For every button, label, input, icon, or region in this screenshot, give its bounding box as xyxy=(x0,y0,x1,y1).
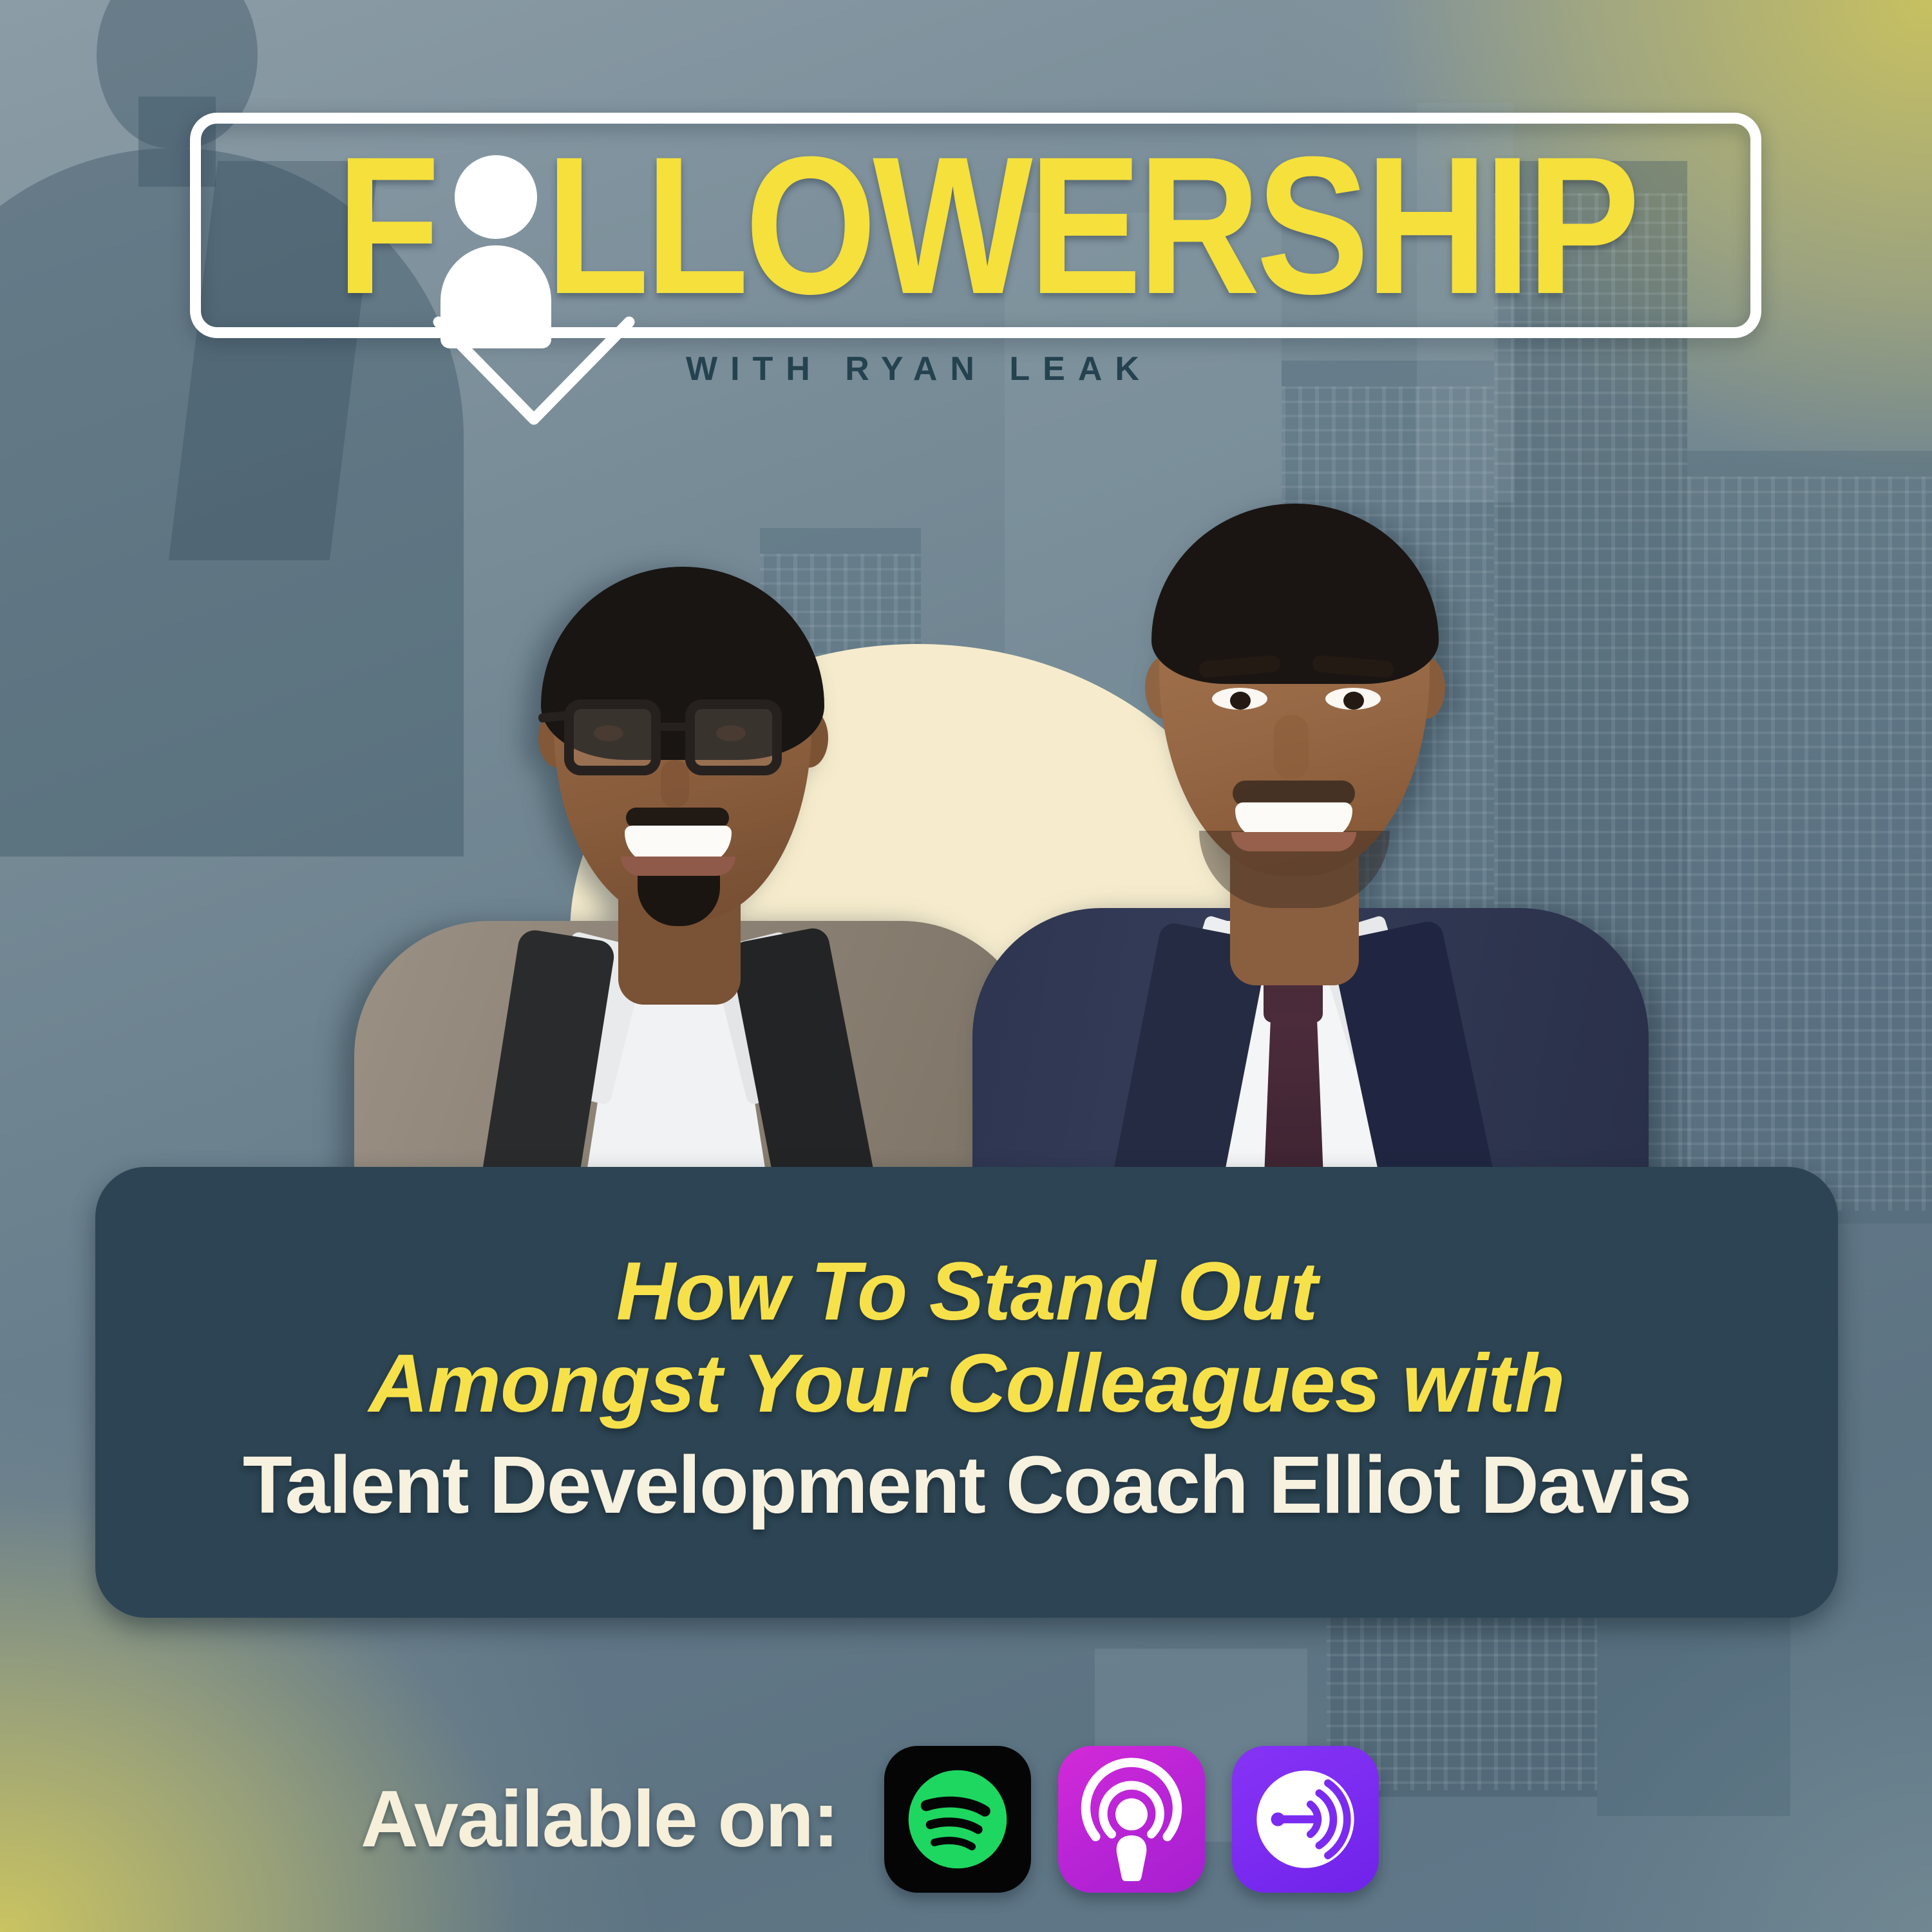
apple-podcasts-icon xyxy=(1070,1757,1193,1881)
left-host-lip xyxy=(621,857,735,876)
right-host-pupil xyxy=(1343,692,1364,710)
right-host-hair xyxy=(1151,504,1439,684)
episode-title-line-2: Amongst Your Colleagues with xyxy=(369,1338,1565,1430)
logo-tagline: WITH RYAN LEAK xyxy=(686,350,1152,388)
left-host-eyeglasses xyxy=(685,699,782,775)
left-host-eyeglasses xyxy=(564,699,661,775)
spotify-icon xyxy=(900,1762,1015,1877)
apple-podcasts-button[interactable] xyxy=(1058,1746,1205,1893)
episode-title-line-3: Talent Development Coach Elliot Davis xyxy=(243,1439,1690,1530)
host-photo-group xyxy=(309,444,1713,1217)
left-host-nose xyxy=(661,760,689,808)
person-icon-head xyxy=(455,155,537,239)
episode-title-card: How To Stand Out Amongst Your Colleagues… xyxy=(95,1167,1838,1618)
podcast-logo: F LLOWERSHIP WITH RYAN LEAK xyxy=(190,113,1761,396)
anchor-podcast-icon xyxy=(1243,1757,1368,1882)
person-icon-body xyxy=(440,245,551,348)
logo-letter-f: F xyxy=(337,128,437,323)
host-photo-left xyxy=(348,470,1050,1217)
right-host-pupil xyxy=(1230,692,1251,710)
person-silhouette-icon xyxy=(435,150,556,311)
anchor-podcast-button[interactable] xyxy=(1232,1746,1379,1893)
left-host-eyeglass-bridge xyxy=(659,723,688,731)
available-on-label: Available on: xyxy=(361,1774,838,1865)
logo-wordmark-rest: LLOWERSHIP xyxy=(545,128,1636,323)
logo-wordmark-row: F LLOWERSHIP xyxy=(190,113,1761,338)
right-host-lip xyxy=(1231,832,1356,851)
spotify-button[interactable] xyxy=(884,1746,1031,1893)
right-host-nose xyxy=(1274,715,1309,779)
availability-row: Available on: xyxy=(361,1732,1584,1906)
building-windows xyxy=(1687,477,1932,1211)
episode-title-line-1: How To Stand Out xyxy=(616,1245,1317,1338)
host-photo-right xyxy=(972,444,1649,1217)
